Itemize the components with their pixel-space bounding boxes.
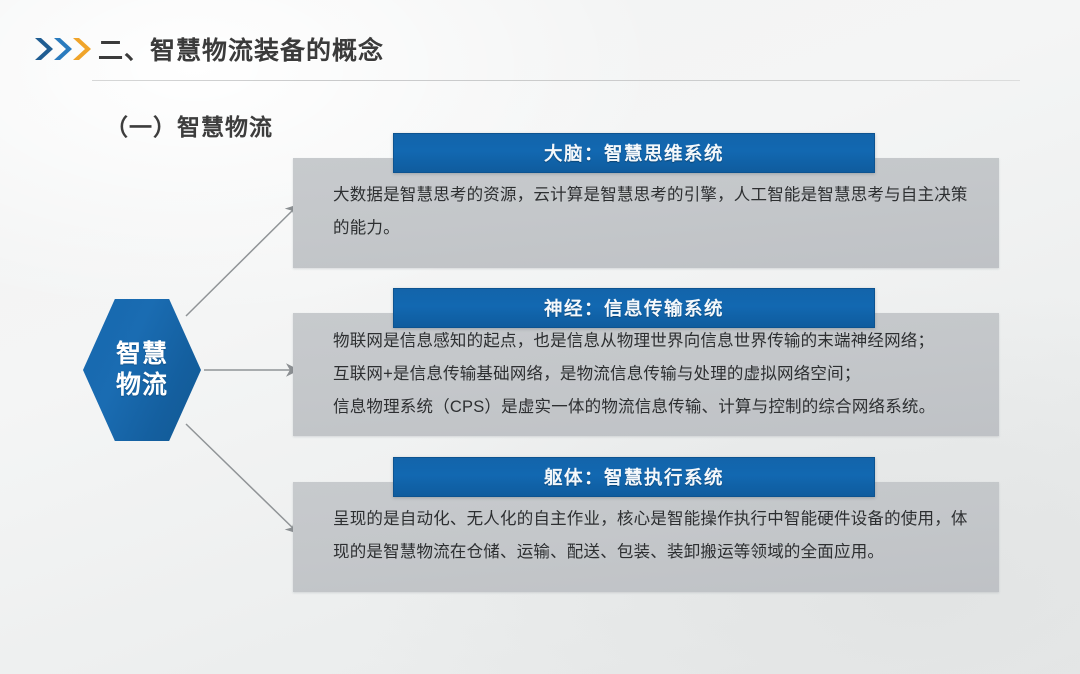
arrow-group [186,205,298,533]
arrow-down-right [186,424,298,533]
panel-body-exec-heading-label: 躯体：智慧执行系统 [394,464,874,490]
section-label: （一）智慧物流 [105,108,273,142]
panel-nerve-heading[interactable]: 神经：信息传输系统 [393,288,875,328]
panel-body-exec-heading[interactable]: 躯体：智慧执行系统 [393,457,875,497]
hexagon-label: 智慧 物流 [83,299,201,441]
panel-brain-heading-label: 大脑：智慧思维系统 [394,140,874,166]
hexagon-label-line2: 物流 [116,370,168,402]
panel-brain-heading[interactable]: 大脑：智慧思维系统 [393,133,875,173]
panel-nerve-text: 物联网是信息感知的起点，也是信息从物理世界向信息世界传输的末端神经网络； 互联网… [333,325,981,424]
panel-nerve[interactable]: 物联网是信息感知的起点，也是信息从物理世界向信息世界传输的末端神经网络； 互联网… [293,288,999,436]
slide-canvas: 二、智慧物流装备的概念 （一）智慧物流 智慧 物流 大数据是智慧思考的资源，云计… [0,0,1080,674]
header-divider [92,80,1020,81]
panel-body-exec-text: 呈现的是自动化、无人化的自主作业，核心是智能操作执行中智能硬件设备的使用，体现的… [333,503,978,569]
chevron-triple-icon [33,36,97,62]
panel-body-exec[interactable]: 呈现的是自动化、无人化的自主作业，核心是智能操作执行中智能硬件设备的使用，体现的… [293,457,999,592]
panel-brain[interactable]: 大数据是智慧思考的资源，云计算是智慧思考的引擎，人工智能是智慧思考与自主决策的能… [293,133,999,268]
hexagon-label-line1: 智慧 [116,339,168,371]
page-title: 二、智慧物流装备的概念 [98,31,384,67]
arrow-up-right [186,205,298,316]
central-hexagon[interactable]: 智慧 物流 [83,299,201,441]
panel-brain-text: 大数据是智慧思考的资源，云计算是智慧思考的引擎，人工智能是智慧思考与自主决策的能… [333,179,973,245]
panel-nerve-heading-label: 神经：信息传输系统 [394,295,874,321]
